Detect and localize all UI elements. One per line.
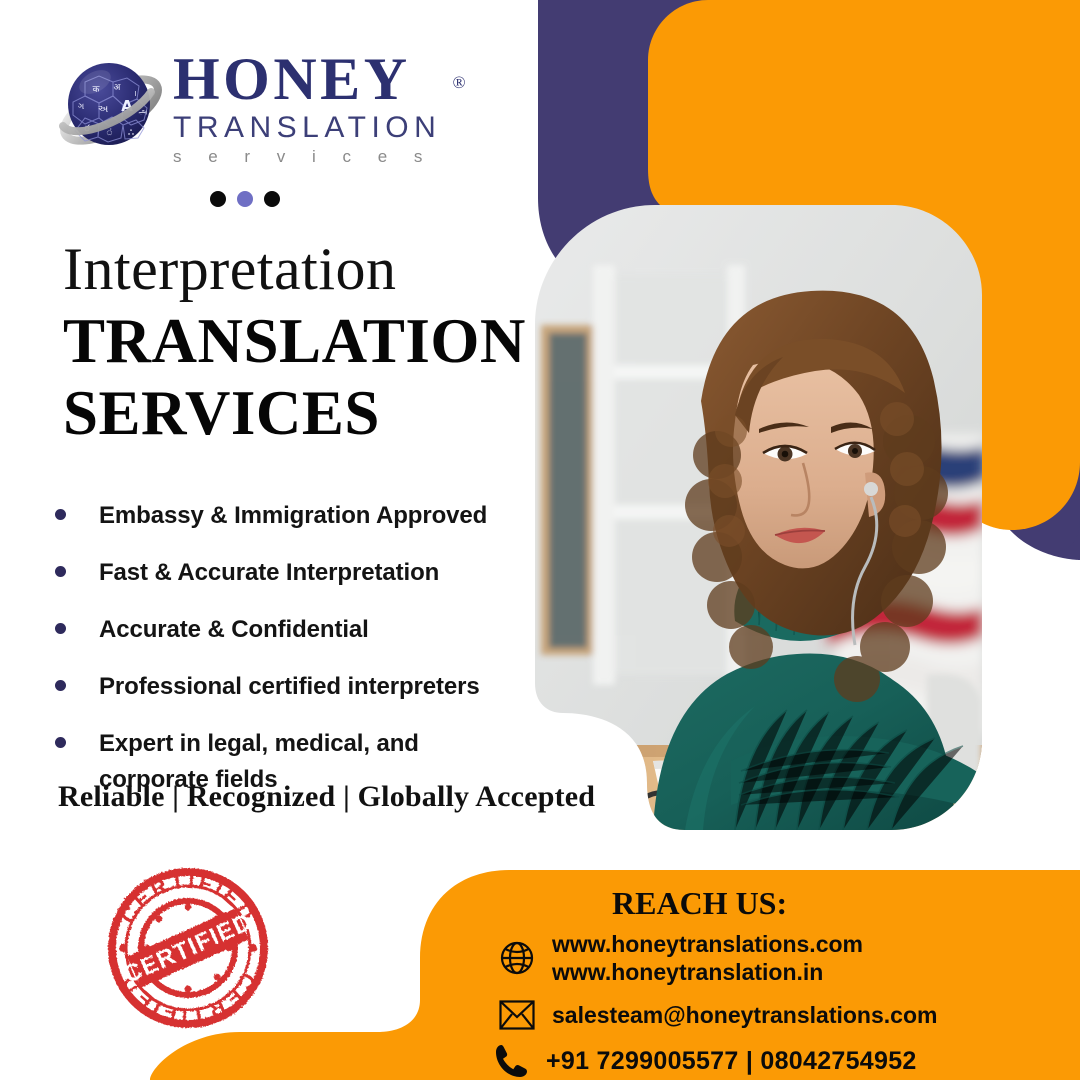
bullet-dot-icon	[55, 509, 66, 520]
registered-trademark-icon: ®	[453, 51, 469, 115]
bullet-dot-icon	[55, 566, 66, 577]
list-item-label: Professional certified interpreters	[99, 669, 480, 705]
svg-text:ஃ: ஃ	[128, 128, 135, 137]
tagline: Reliable | Recognized | Globally Accepte…	[58, 780, 595, 814]
contact-block: REACH US: www.honeytranslations.com www.…	[430, 878, 1070, 1080]
list-item: Accurate & Confidential	[55, 612, 535, 648]
logo-name: HONEY ®	[173, 47, 463, 111]
svg-text:अ: अ	[114, 83, 122, 93]
dot-separator	[210, 191, 280, 207]
logo-subtitle: TRANSLATION	[173, 111, 463, 145]
website-row[interactable]: www.honeytranslations.com www.honeytrans…	[496, 930, 863, 986]
certified-stamp-icon: CERTIFIED CERTIFIED	[107, 867, 269, 1029]
list-item: Fast & Accurate Interpretation	[55, 555, 535, 591]
globe-icon	[496, 937, 538, 979]
headline-script-line: Interpretation	[63, 236, 533, 302]
headline-block: Interpretation TRANSLATION SERVICES	[63, 236, 533, 446]
bullet-dot-icon	[55, 737, 66, 748]
list-item-label: Accurate & Confidential	[99, 612, 369, 648]
photo-svg	[535, 205, 982, 830]
dot-black-right	[264, 191, 280, 207]
list-item: Professional certified interpreters	[55, 669, 535, 705]
bullet-dot-icon	[55, 680, 66, 691]
svg-text:અ: અ	[98, 104, 109, 115]
svg-text:்: ்	[106, 128, 114, 138]
logo-wordmark: HONEY ® TRANSLATION s e r v i c e s	[173, 47, 463, 169]
svg-text:।: ।	[133, 89, 136, 98]
website-links[interactable]: www.honeytranslations.com www.honeytrans…	[552, 930, 863, 986]
email-row[interactable]: salesteam@honeytranslations.com	[496, 994, 937, 1036]
feature-list: Embassy & Immigration Approved Fast & Ac…	[55, 498, 535, 819]
dot-black-left	[210, 191, 226, 207]
phone-numbers[interactable]: +91 7299005577 | 08042754952	[546, 1047, 917, 1075]
list-item: Embassy & Immigration Approved	[55, 498, 535, 534]
logo-tertiary: s e r v i c e s	[173, 145, 463, 169]
dot-periwinkle-middle	[237, 191, 253, 207]
logo-name-text: HONEY	[173, 46, 411, 112]
bullet-dot-icon	[55, 623, 66, 634]
list-item-label: Embassy & Immigration Approved	[99, 498, 487, 534]
svg-text:ગ: ગ	[78, 102, 85, 112]
globe-languages-icon: क अ । ગ અ A அ ర ் ஃ	[55, 52, 167, 164]
phone-icon	[490, 1040, 532, 1080]
headline-bold-line-2: SERVICES	[63, 380, 533, 446]
email-address[interactable]: salesteam@honeytranslations.com	[552, 1001, 937, 1029]
list-item-label: Fast & Accurate Interpretation	[99, 555, 439, 591]
poster-canvas: क अ । ગ અ A அ ర ் ஃ HONEY ® TRANSLATION	[0, 0, 1080, 1080]
website-line-2[interactable]: www.honeytranslation.in	[552, 958, 863, 986]
headline-bold-line-1: TRANSLATION	[63, 308, 533, 374]
brand-logo[interactable]: क अ । ગ અ A அ ర ் ஃ HONEY ® TRANSLATION	[55, 47, 455, 177]
contact-heading: REACH US:	[612, 885, 787, 922]
interpreter-photo	[535, 205, 982, 830]
phone-row[interactable]: +91 7299005577 | 08042754952	[490, 1040, 917, 1080]
envelope-icon	[496, 994, 538, 1036]
website-line-1[interactable]: www.honeytranslations.com	[552, 930, 863, 958]
